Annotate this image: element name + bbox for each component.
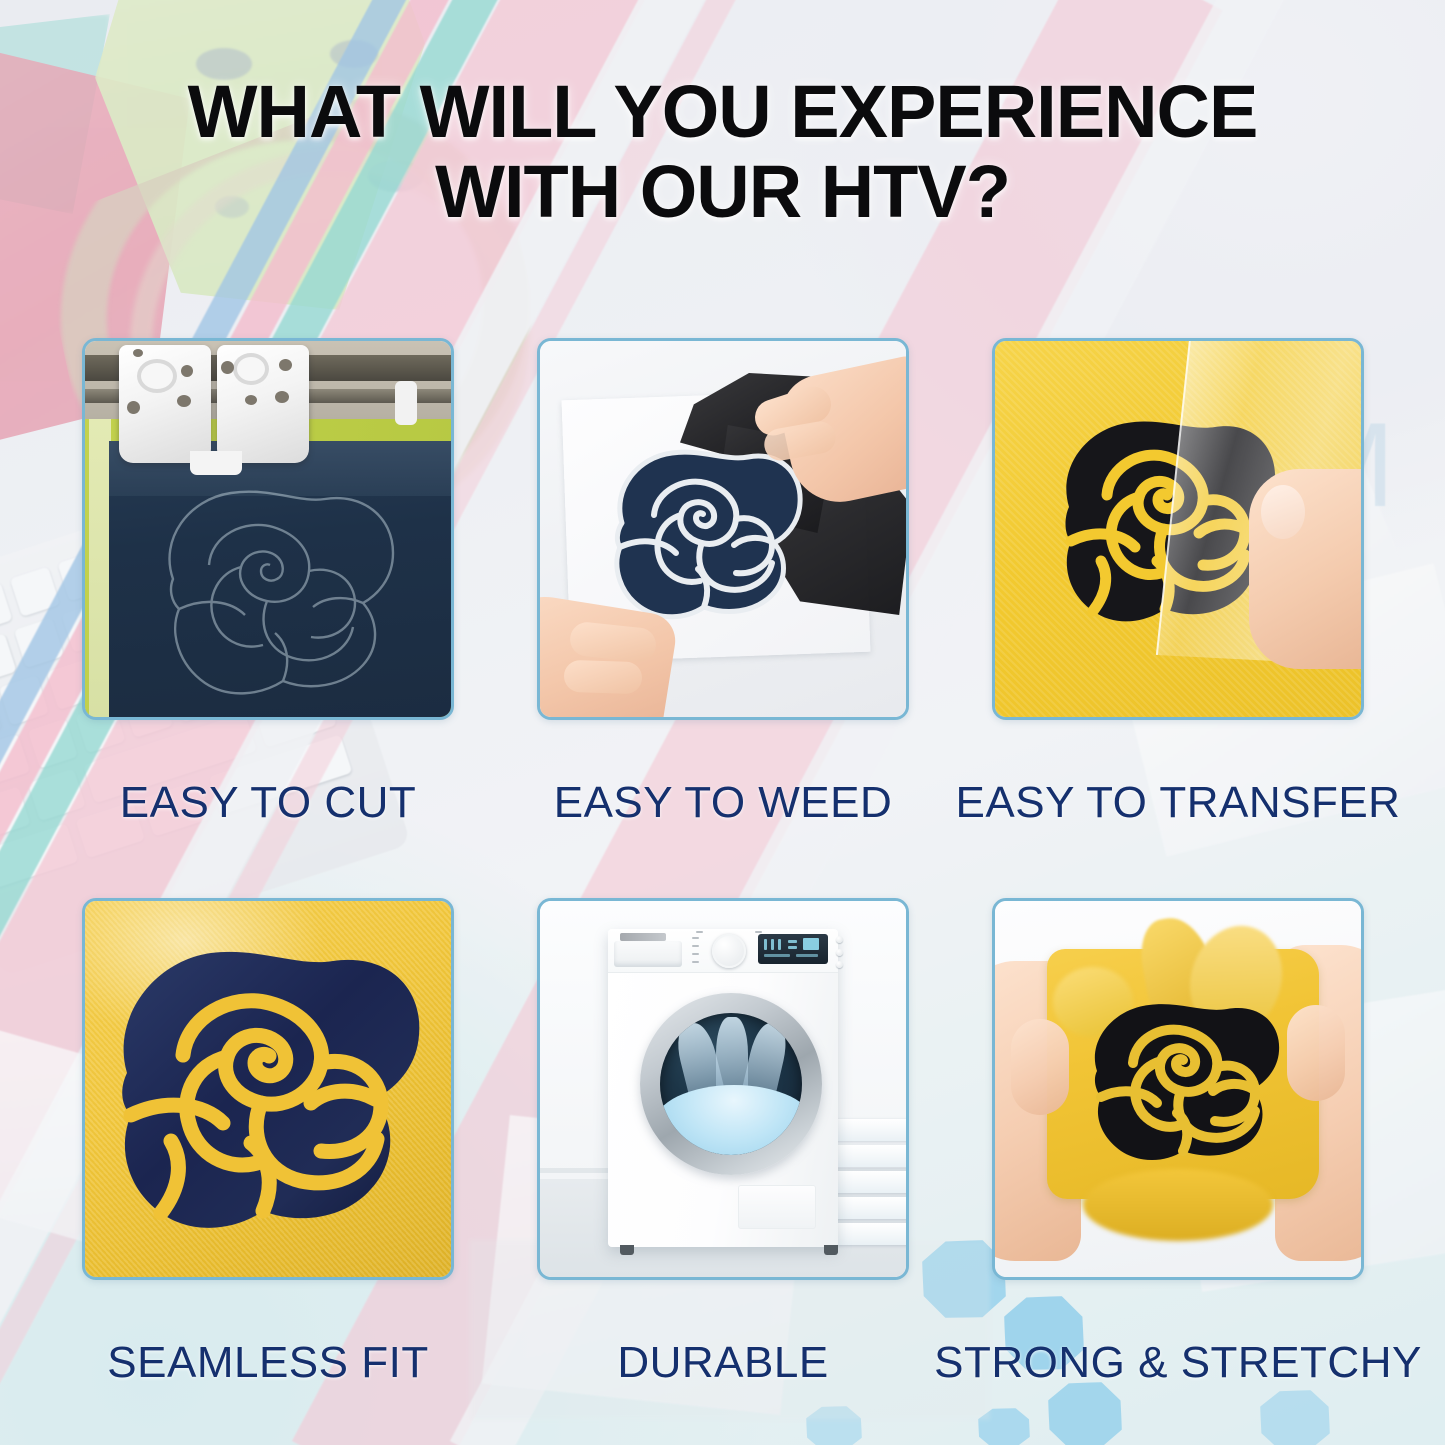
feature-image-durable[interactable]: [537, 898, 909, 1280]
feature-cell-easy-to-transfer: EASY TO TRANSFER: [992, 338, 1364, 720]
feature-image-seamless-fit[interactable]: [82, 898, 454, 1280]
feature-cell-durable: DURABLE: [537, 898, 909, 1280]
feature-image-easy-to-cut[interactable]: [82, 338, 454, 720]
feature-image-easy-to-transfer[interactable]: [992, 338, 1364, 720]
folded-towels: [828, 1119, 906, 1247]
feature-cell-easy-to-cut: EASY TO CUT: [82, 338, 454, 720]
feature-image-easy-to-weed[interactable]: [537, 338, 909, 720]
cutting-mat-ruler: [89, 419, 111, 717]
detergent-drawer: [614, 941, 682, 967]
water-in-drum: [660, 1085, 802, 1155]
feature-caption-durable: DURABLE: [617, 1338, 828, 1388]
feature-cell-seamless-fit: SEAMLESS FIT: [82, 898, 454, 1280]
feature-row-1: EASY TO CUT: [0, 338, 1445, 896]
feature-row-2: SEAMLESS FIT: [0, 898, 1445, 1445]
feature-caption-seamless-fit: SEAMLESS FIT: [107, 1338, 428, 1388]
thumb-left: [1011, 1019, 1069, 1115]
navy-rose-design: [606, 435, 806, 635]
feature-caption-strong-stretchy: STRONG & STRETCHY: [934, 1338, 1422, 1388]
rose-macro-on-fabric: [99, 923, 447, 1265]
washing-machine-door[interactable]: [660, 1013, 802, 1155]
filter-access-door: [738, 1185, 816, 1229]
finger: [563, 660, 642, 695]
rose-cut-outline: [149, 469, 401, 707]
rose-on-stretched-fabric: [1083, 993, 1287, 1169]
feature-cell-strong-stretchy: STRONG & STRETCHY: [992, 898, 1364, 1280]
feature-caption-easy-to-cut: EASY TO CUT: [120, 778, 416, 828]
washing-machine-display: [758, 934, 828, 964]
thumbnail: [1261, 485, 1305, 539]
feature-caption-easy-to-transfer: EASY TO TRANSFER: [956, 778, 1401, 828]
feature-caption-easy-to-weed: EASY TO WEED: [554, 778, 893, 828]
infographic-content: WHAT WILL YOU EXPERIENCE WITH OUR HTV?: [0, 0, 1445, 1445]
page-title-line-1: WHAT WILL YOU EXPERIENCE: [188, 70, 1258, 153]
feature-cell-easy-to-weed: EASY TO WEED: [537, 338, 909, 720]
feature-grid: EASY TO CUT: [0, 338, 1445, 1445]
page-title: WHAT WILL YOU EXPERIENCE WITH OUR HTV?: [0, 72, 1445, 232]
feature-image-strong-stretchy[interactable]: [992, 898, 1364, 1280]
cutter-carriage-b: [217, 345, 309, 463]
brand-logo: [620, 933, 666, 941]
page-title-line-2: WITH OUR HTV?: [40, 152, 1405, 232]
program-selector-dial[interactable]: [712, 934, 746, 968]
thumb-right: [1287, 1005, 1345, 1101]
cutter-blade-tab: [190, 451, 242, 475]
cutter-carriage-a: [119, 345, 211, 463]
carriage-stopper: [395, 381, 417, 425]
